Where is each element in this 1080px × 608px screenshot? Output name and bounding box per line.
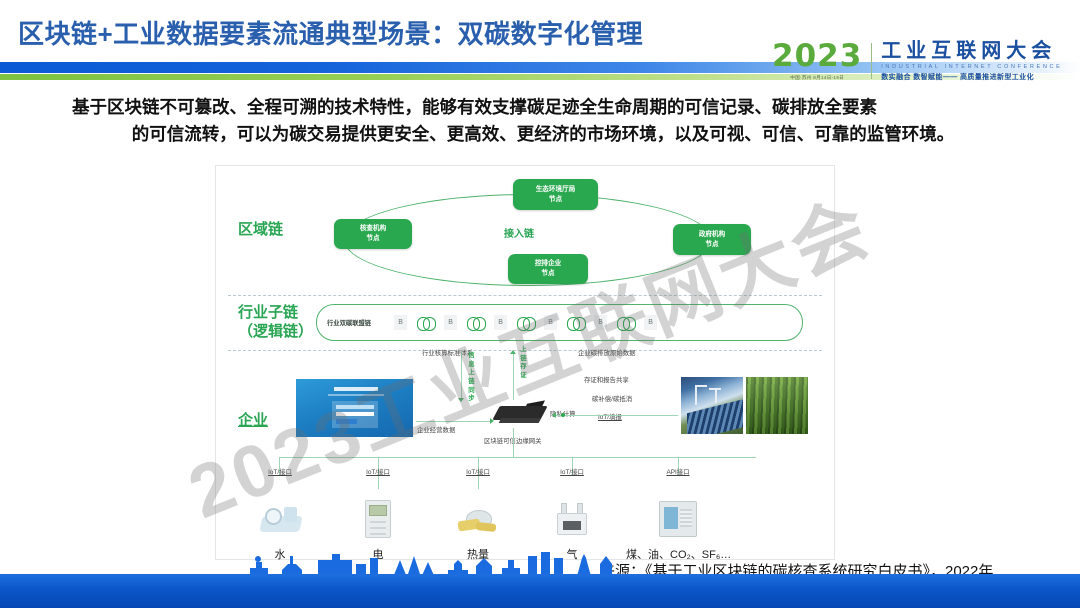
enterprise-band: 企业 行业核算标准体系 企业碳排放原始数据 存证和报告共享 碳补偿/碳抵消 Io… bbox=[216, 352, 834, 561]
architecture-diagram: 区域链 接入链 生态环境厅局 节点 核查机构 节点 政府机构 节点 控排企业 节… bbox=[215, 165, 835, 560]
gateway-base bbox=[499, 418, 542, 423]
meter-heat[interactable]: IoT/接口 热量 bbox=[440, 467, 516, 562]
band-label-subchain-line1: 行业子链 bbox=[238, 304, 313, 323]
arrow-photos-to-gateway bbox=[552, 412, 556, 418]
arrow-sync-down bbox=[458, 398, 464, 402]
industrial-cabinet-icon bbox=[655, 496, 701, 542]
water-meter-icon bbox=[257, 496, 303, 542]
arrow-onchain-up bbox=[510, 350, 516, 354]
node-government-line1: 政府机构 bbox=[699, 230, 725, 240]
node-audit-org-line2: 节点 bbox=[360, 234, 386, 244]
connector-node-dot bbox=[561, 413, 565, 417]
flow-label-evidence-report-share: 存证和报告共享 bbox=[584, 375, 629, 384]
meter-electric[interactable]: IoT/接口 电 bbox=[340, 467, 416, 562]
subchain-band: 行业子链 （逻辑链） 行业双碳联盟链 B B B B B B bbox=[216, 298, 834, 350]
meter-water-io-label: IoT/接口 bbox=[242, 467, 318, 476]
meter-industrial[interactable]: API接口 煤、油、CO₂、SF₆… bbox=[626, 467, 730, 562]
meter-water[interactable]: IoT/接口 水 bbox=[242, 467, 318, 562]
alliance-chain-title: 行业双碳联盟链 bbox=[327, 318, 371, 327]
meter-heat-io-label: IoT/接口 bbox=[440, 467, 516, 476]
node-eco-bureau-line1: 生态环境厅局 bbox=[536, 185, 576, 195]
conference-logo: 2023 中国·苏州 8月14日-19日 工业互联网大会 INDUSTRIAL … bbox=[772, 36, 1072, 86]
node-controlled-enterprise-line2: 节点 bbox=[535, 269, 561, 279]
chain-block: B bbox=[394, 315, 407, 330]
alliance-chain-box: 行业双碳联盟链 B B B B B B bbox=[316, 304, 803, 341]
vertical-label-onchain-evidence: 上链存证 bbox=[520, 346, 527, 381]
flow-label-accounting-standard: 行业核算标准体系 bbox=[422, 348, 473, 357]
logo-year: 2023 bbox=[772, 41, 862, 72]
connector-photos-to-gateway bbox=[556, 415, 678, 416]
lead-line-2: 的可信流转，可以为碳交易提供更安全、更高效、更经济的市场环境，以及可视、可信、可… bbox=[72, 121, 1014, 148]
node-audit-org-line1: 核查机构 bbox=[360, 224, 386, 234]
chain-block: B bbox=[644, 315, 657, 330]
footer-bar bbox=[0, 574, 1080, 608]
slide-footer bbox=[0, 564, 1080, 608]
erp-title-bar bbox=[334, 387, 378, 391]
logo-year-subtitle: 中国·苏州 8月14日-19日 bbox=[790, 75, 844, 81]
erp-subtitle-bar bbox=[328, 394, 384, 396]
connector-onchain-up bbox=[513, 354, 514, 400]
slide-header: 区块链+工业数据要素流通典型场景：双碳数字化管理 2023 中国·苏州 8月14… bbox=[0, 0, 1080, 90]
heat-meter-icon bbox=[455, 496, 501, 542]
lead-line-1: 基于区块链不可篡改、全程可溯的技术特性，能够有效支撑碳足迹全生命周期的可信记录、… bbox=[72, 97, 877, 117]
flow-label-business-data: 企业经营数据 bbox=[417, 425, 455, 434]
page-title: 区块链+工业数据要素流通典型场景：双碳数字化管理 bbox=[18, 14, 643, 51]
logo-text-block: 工业互联网大会 INDUSTRIAL INTERNET CONFERENCE 数… bbox=[881, 41, 1062, 82]
chain-block: B bbox=[444, 315, 457, 330]
node-government-line2: 节点 bbox=[699, 240, 725, 250]
region-chain-band: 区域链 接入链 生态环境厅局 节点 核查机构 节点 政府机构 节点 控排企业 节… bbox=[216, 166, 834, 295]
connector-sync-down bbox=[461, 350, 462, 398]
erp-field-2 bbox=[336, 412, 374, 416]
band-separator-1 bbox=[228, 295, 822, 296]
erp-system-screenshot bbox=[296, 379, 413, 437]
access-chain-label: 接入链 bbox=[504, 225, 534, 240]
wind-turbine-blade bbox=[695, 385, 707, 387]
connector-gateway-to-bus bbox=[513, 428, 514, 457]
band-label-subchain: 行业子链 （逻辑链） bbox=[238, 304, 313, 342]
meter-bus-line bbox=[279, 457, 756, 458]
meter-gas[interactable]: IoT/接口 气 bbox=[534, 467, 610, 562]
wind-turbine-blade bbox=[709, 388, 721, 390]
chain-link-icon bbox=[517, 317, 534, 329]
vertical-label-sync: 信息上链同步 bbox=[468, 352, 475, 404]
erp-submit-button bbox=[336, 419, 357, 424]
electric-meter-icon bbox=[355, 496, 401, 542]
meter-gas-io-label: IoT/接口 bbox=[534, 467, 610, 476]
logo-divider bbox=[871, 43, 872, 79]
band-label-enterprise: 企业 bbox=[238, 409, 268, 430]
forest-photo bbox=[746, 377, 808, 434]
logo-title-en: INDUSTRIAL INTERNET CONFERENCE bbox=[881, 64, 1062, 70]
node-controlled-enterprise-line1: 控排企业 bbox=[535, 259, 561, 269]
chain-block: B bbox=[544, 315, 557, 330]
flow-label-raw-emission-data: 企业碳排放原始数据 bbox=[578, 348, 636, 357]
meter-electric-io-label: IoT/接口 bbox=[340, 467, 416, 476]
node-controlled-enterprise[interactable]: 控排企业 节点 bbox=[508, 254, 588, 284]
connector-erp-to-gateway bbox=[416, 421, 492, 422]
logo-year-block: 2023 中国·苏州 8月14日-19日 bbox=[772, 41, 871, 81]
band-label-subchain-line2: （逻辑链） bbox=[238, 323, 313, 342]
flow-label-iot-report: IoT/填报 bbox=[598, 412, 622, 421]
meter-industrial-io-label: API接口 bbox=[626, 467, 730, 476]
chain-link-icon bbox=[617, 317, 634, 329]
chain-link-icon bbox=[417, 317, 434, 329]
band-label-region: 区域链 bbox=[238, 218, 283, 239]
chain-link-icon bbox=[567, 317, 584, 329]
lead-paragraph: 基于区块链不可篡改、全程可溯的技术特性，能够有效支撑碳足迹全生命周期的可信记录、… bbox=[72, 94, 1014, 148]
chain-link-icon bbox=[467, 317, 484, 329]
flow-label-carbon-offset: 碳补偿/碳抵消 bbox=[592, 394, 632, 403]
wind-turbine-mast bbox=[715, 388, 717, 403]
chain-block: B bbox=[494, 315, 507, 330]
node-eco-bureau-line2: 节点 bbox=[536, 195, 576, 205]
chain-block: B bbox=[594, 315, 607, 330]
node-government[interactable]: 政府机构 节点 bbox=[673, 224, 751, 255]
wind-turbine-mast bbox=[695, 385, 697, 405]
logo-slogan: 数实融合 数智赋能—— 高质量推进新型工业化 bbox=[881, 72, 1062, 82]
gas-meter-icon bbox=[549, 496, 595, 542]
erp-field-1 bbox=[336, 405, 374, 409]
logo-title-cn: 工业互联网大会 bbox=[881, 41, 1062, 62]
edge-gateway-device-icon bbox=[496, 402, 546, 428]
renewable-energy-photo bbox=[681, 377, 743, 434]
node-eco-bureau[interactable]: 生态环境厅局 节点 bbox=[513, 179, 598, 210]
node-audit-org[interactable]: 核查机构 节点 bbox=[334, 219, 412, 249]
